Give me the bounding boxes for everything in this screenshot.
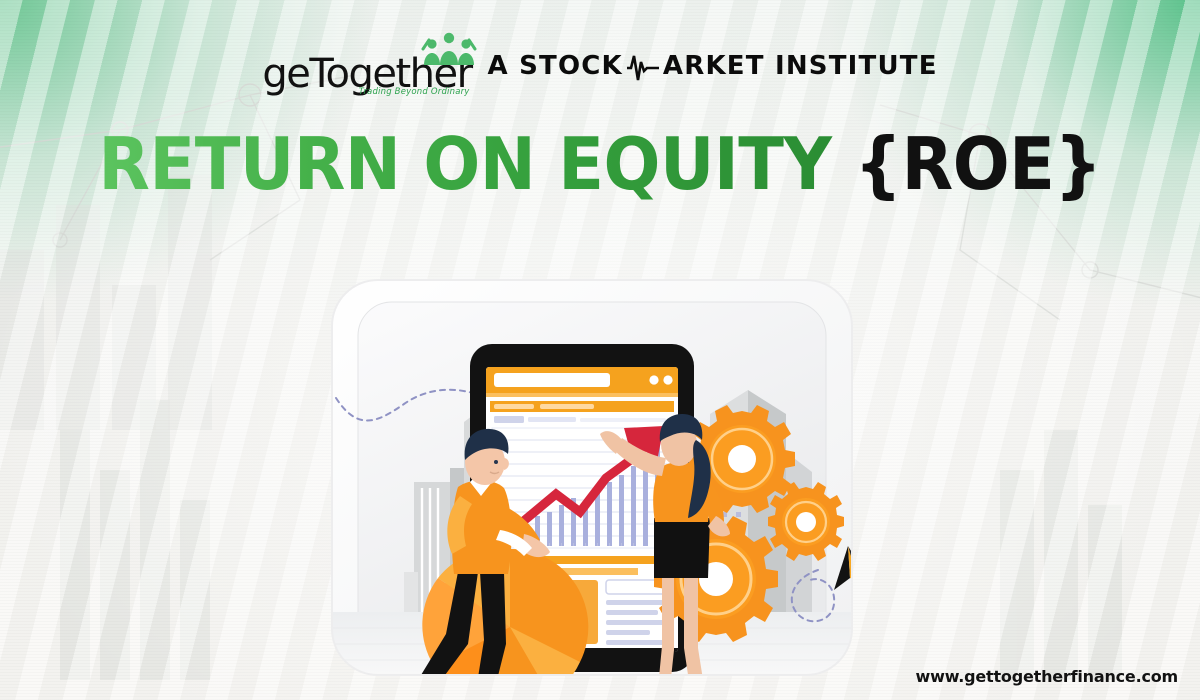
logo-text-cap: T bbox=[309, 51, 325, 97]
poster-canvas: geTogether Trading Beyond Ordinary A STO… bbox=[0, 0, 1200, 700]
company-logo[interactable]: geTogether Trading Beyond Ordinary bbox=[262, 38, 471, 94]
people-group-icon bbox=[420, 32, 478, 71]
institute-title-part1: A STOCK bbox=[488, 51, 623, 81]
page-title-black: {ROE} bbox=[854, 122, 1101, 206]
page-title: RETURN ON EQUITY {ROE} bbox=[42, 128, 1158, 200]
page-title-green: RETURN ON EQUITY bbox=[98, 122, 854, 206]
business-analytics-illustration bbox=[318, 272, 878, 700]
institute-title: A STOCK ARKET INSTITUTE bbox=[488, 51, 938, 81]
brand-header: geTogether Trading Beyond Ordinary A STO… bbox=[0, 38, 1200, 94]
logo-tagline: Trading Beyond Ordinary bbox=[359, 87, 470, 97]
website-url[interactable]: www.gettogetherfinance.com bbox=[916, 667, 1178, 686]
logo-text-prefix: ge bbox=[262, 51, 309, 97]
institute-title-part2: ARKET INSTITUTE bbox=[663, 51, 938, 81]
heartbeat-pulse-icon bbox=[626, 51, 660, 81]
